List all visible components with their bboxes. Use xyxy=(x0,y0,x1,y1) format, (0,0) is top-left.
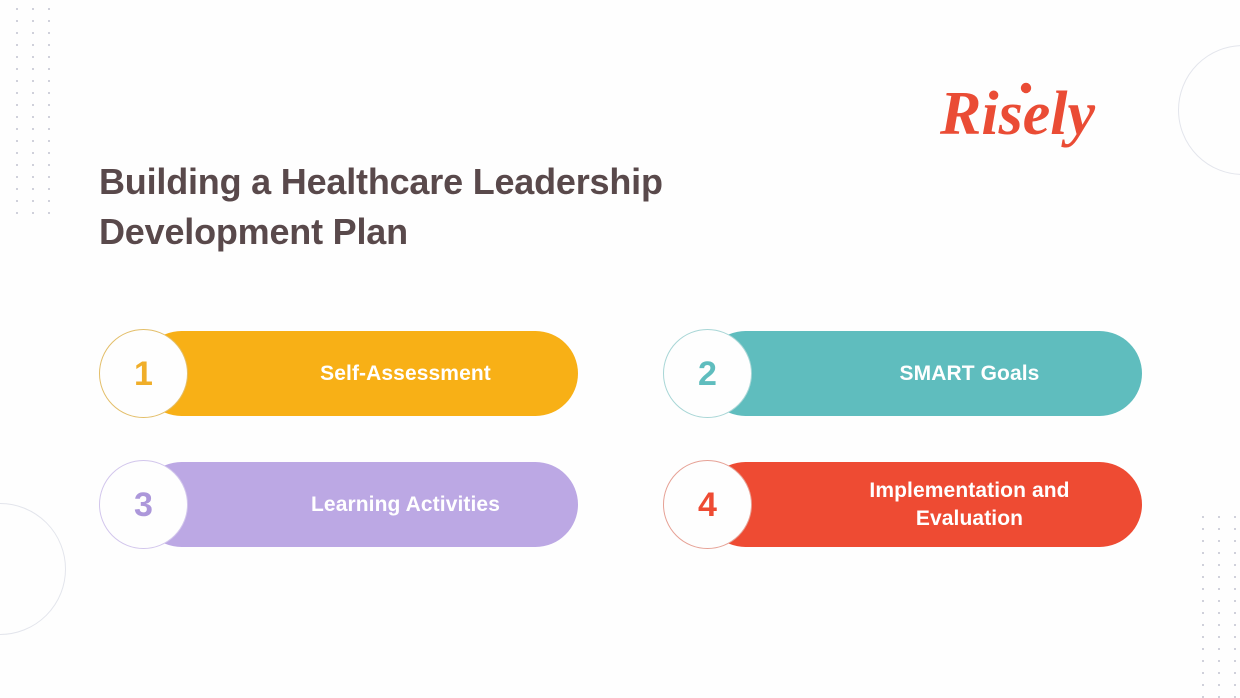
step-label-2: SMART Goals xyxy=(900,360,1040,387)
step-badge-3: 3 xyxy=(99,460,188,549)
step-label-4: Implementation and Evaluation xyxy=(815,477,1124,532)
step-badge-4: 4 xyxy=(663,460,752,549)
circle-outline-top-right-decoration xyxy=(1178,45,1240,175)
step-item-4[interactable]: Implementation and Evaluation 4 xyxy=(663,460,1142,549)
step-number-4: 4 xyxy=(698,488,717,522)
step-label-3: Learning Activities xyxy=(311,491,500,518)
risely-logo: Risely xyxy=(934,66,1154,158)
step-badge-2: 2 xyxy=(663,329,752,418)
step-item-1[interactable]: Self-Assessment 1 xyxy=(99,329,578,418)
circle-outline-bottom-left-decoration xyxy=(0,503,66,635)
step-bar-4[interactable]: Implementation and Evaluation xyxy=(703,462,1142,547)
step-bar-2[interactable]: SMART Goals xyxy=(703,331,1142,416)
risely-logo-dot xyxy=(1021,83,1031,93)
step-number-1: 1 xyxy=(134,357,153,391)
step-item-3[interactable]: Learning Activities 3 xyxy=(99,460,578,549)
risely-logo-text: Risely xyxy=(939,80,1095,148)
step-label-1: Self-Assessment xyxy=(320,360,491,387)
step-bar-1[interactable]: Self-Assessment xyxy=(139,331,578,416)
step-number-2: 2 xyxy=(698,357,717,391)
step-bar-3[interactable]: Learning Activities xyxy=(139,462,578,547)
page-title: Building a Healthcare Leadership Develop… xyxy=(99,157,859,256)
dot-grid-top-left-decoration xyxy=(6,0,50,218)
step-number-3: 3 xyxy=(134,488,153,522)
step-badge-1: 1 xyxy=(99,329,188,418)
slide-canvas: Risely Building a Healthcare Leadership … xyxy=(0,0,1240,698)
dot-grid-bottom-right-decoration xyxy=(1192,508,1236,698)
steps-list: Self-Assessment 1 SMART Goals 2 Learning… xyxy=(99,329,1144,549)
step-item-2[interactable]: SMART Goals 2 xyxy=(663,329,1142,418)
